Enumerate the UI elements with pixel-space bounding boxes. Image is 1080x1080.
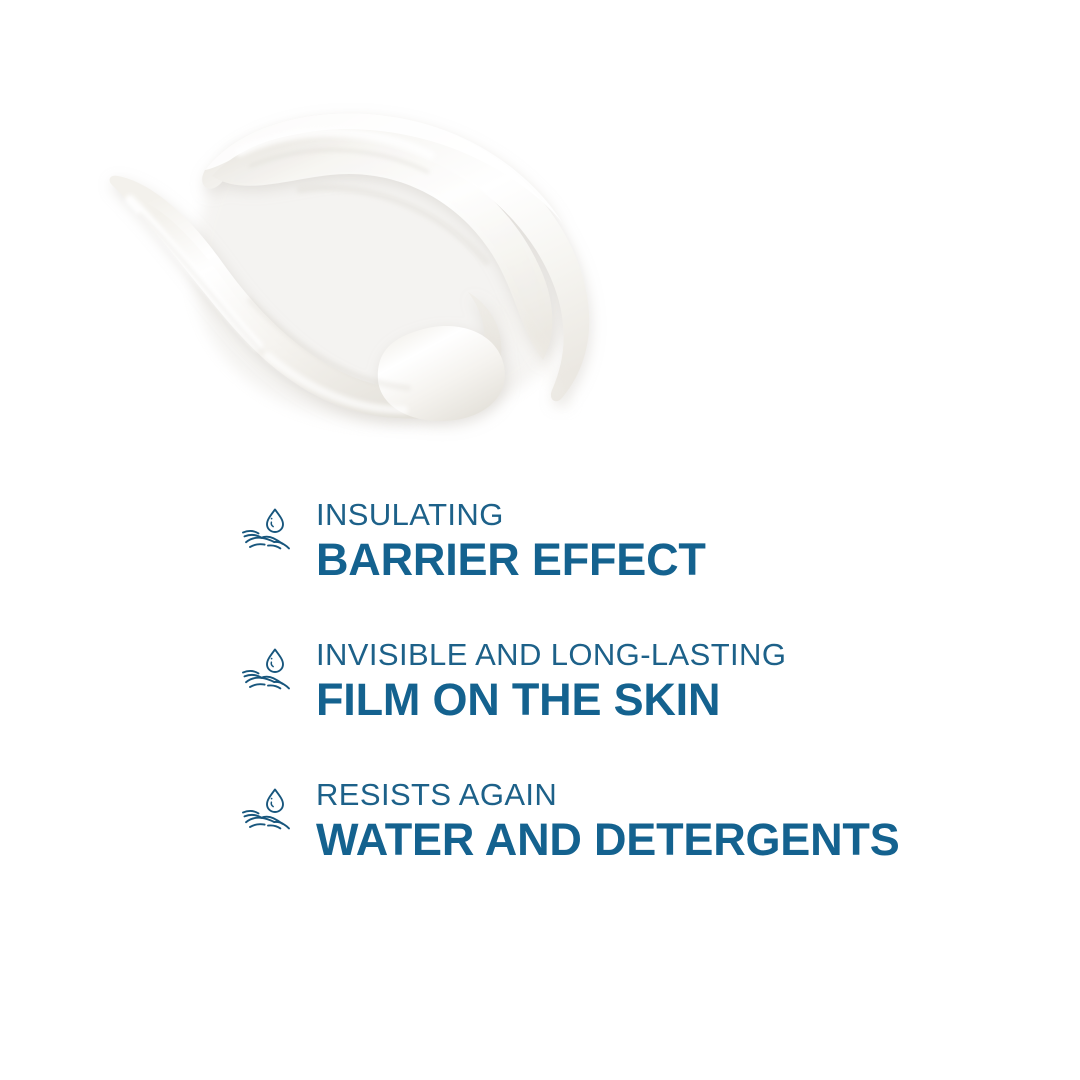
benefit-eyebrow: INSULATING: [316, 496, 706, 534]
benefit-eyebrow: RESISTS AGAIN: [316, 776, 900, 814]
benefit-title: WATER AND DETERGENTS: [316, 814, 900, 866]
benefits-list: INSULATING BARRIER EFFECT: [0, 470, 1080, 890]
hand-with-water-drop-icon: [240, 503, 296, 559]
benefit-item: RESISTS AGAIN WATER AND DETERGENTS: [0, 750, 1080, 890]
hand-with-water-drop-icon: [240, 643, 296, 699]
benefit-item: INVISIBLE AND LONG-LASTING FILM ON THE S…: [0, 610, 1080, 750]
benefit-text: RESISTS AGAIN WATER AND DETERGENTS: [316, 776, 900, 866]
hand-with-water-drop-icon: [240, 783, 296, 839]
benefit-title: BARRIER EFFECT: [316, 534, 706, 586]
benefit-text: INSULATING BARRIER EFFECT: [316, 496, 706, 586]
benefit-text: INVISIBLE AND LONG-LASTING FILM ON THE S…: [316, 636, 786, 726]
benefit-title: FILM ON THE SKIN: [316, 674, 786, 726]
benefit-eyebrow: INVISIBLE AND LONG-LASTING: [316, 636, 786, 674]
hero-swatch-image: [0, 0, 1080, 470]
benefit-item: INSULATING BARRIER EFFECT: [0, 470, 1080, 610]
